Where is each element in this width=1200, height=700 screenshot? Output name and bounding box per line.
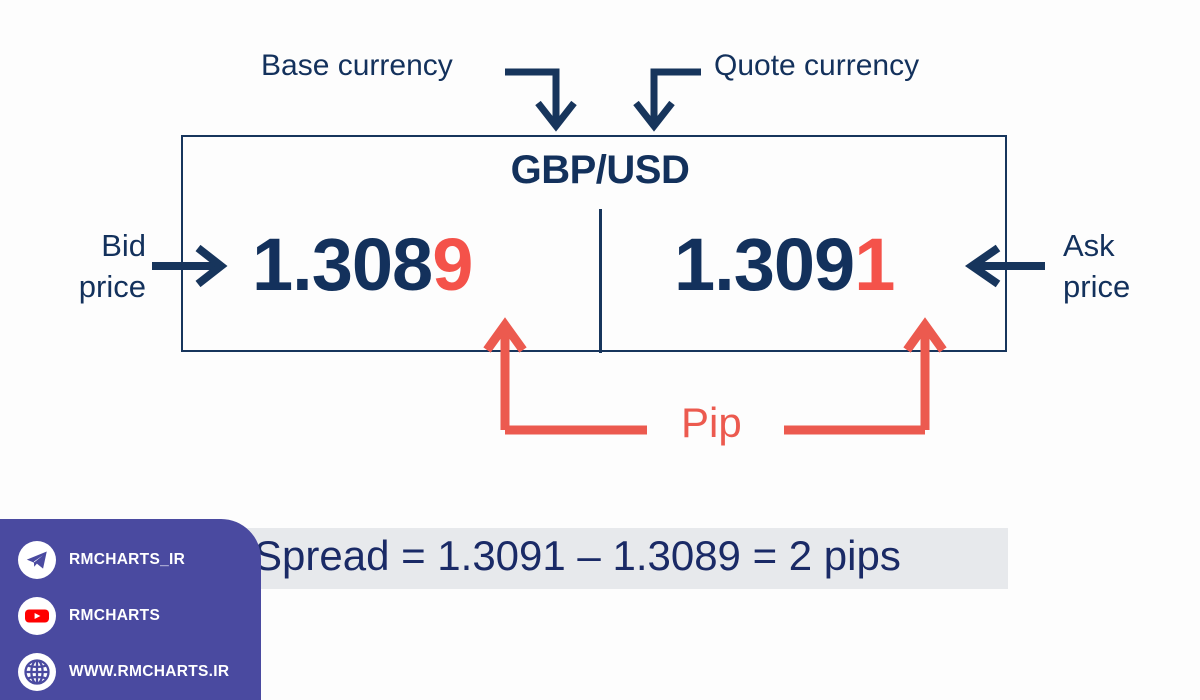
bid-price-pip-digit: 9 — [432, 223, 472, 306]
watermark-item-telegram[interactable]: RMCHARTS_IR — [18, 541, 185, 579]
bid-price-prefix: 1.308 — [252, 223, 432, 306]
quote-box-divider — [599, 209, 602, 353]
watermark-label-website: WWW.RMCHARTS.IR — [69, 663, 229, 681]
quote-currency-label: Quote currency — [714, 49, 919, 83]
globe-icon — [18, 653, 56, 691]
base-currency-arrow-icon — [505, 72, 574, 126]
spread-formula-text: Spread = 1.3091 – 1.3089 = 2 pips — [254, 532, 901, 580]
watermark-item-website[interactable]: WWW.RMCHARTS.IR — [18, 653, 229, 691]
bid-price-label-line1: Bid — [34, 226, 146, 267]
bid-price-label-line2: price — [34, 267, 146, 308]
watermark-label-telegram: RMCHARTS_IR — [69, 551, 185, 569]
youtube-icon — [18, 597, 56, 635]
watermark-panel: RMCHARTS_IR RMCHARTS — [0, 519, 261, 700]
bid-price-value: 1.3089 — [252, 222, 472, 307]
ask-price-label-line1: Ask — [1063, 226, 1193, 267]
base-currency-label: Base currency — [261, 49, 453, 83]
ask-price-pip-digit: 1 — [854, 223, 894, 306]
bid-price-label: Bid price — [34, 226, 146, 308]
quote-currency-arrow-icon — [636, 72, 701, 126]
ask-price-label-line2: price — [1063, 267, 1193, 308]
telegram-icon — [18, 541, 56, 579]
infographic-canvas: GBP/USD 1.3089 1.3091 Bid price Ask pric… — [0, 0, 1200, 700]
ask-price-value: 1.3091 — [674, 222, 894, 307]
currency-pair-title: GBP/USD — [0, 148, 1200, 193]
ask-price-prefix: 1.309 — [674, 223, 854, 306]
pip-label: Pip — [681, 399, 742, 447]
ask-price-label: Ask price — [1063, 226, 1193, 308]
watermark-item-youtube[interactable]: RMCHARTS — [18, 597, 160, 635]
watermark-label-youtube: RMCHARTS — [69, 607, 160, 625]
